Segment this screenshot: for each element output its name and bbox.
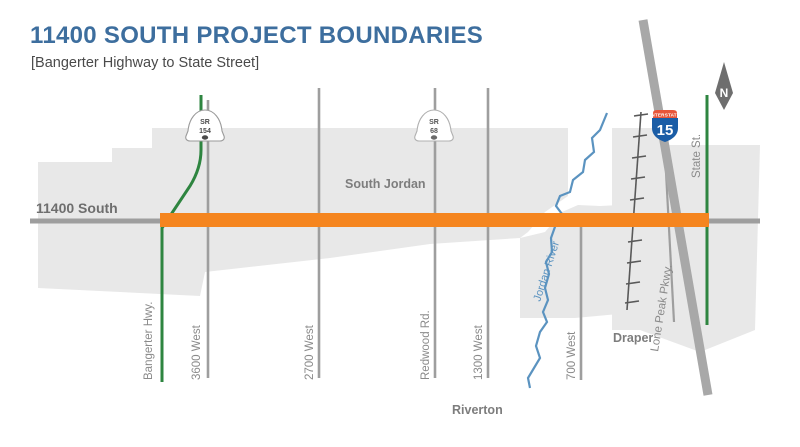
svg-text:154: 154: [199, 128, 211, 135]
corridor-label: 11400 South: [36, 200, 118, 216]
svg-text:SR: SR: [429, 119, 439, 126]
svg-text:68: 68: [430, 128, 438, 135]
road-label-redwood-rd: Redwood Rd.: [420, 310, 432, 380]
road-label-3600-west: 3600 West: [191, 324, 203, 380]
compass-north-label: N: [720, 86, 729, 100]
road-label-2700-west: 2700 West: [304, 324, 316, 380]
shield-sr-68: SR 68: [415, 110, 454, 141]
city-label-draper: Draper: [613, 331, 653, 345]
map-figure: 11400 SOUTH PROJECT BOUNDARIES [Bangerte…: [0, 0, 800, 447]
corridor-layer: [30, 220, 760, 221]
svg-text:15: 15: [657, 122, 674, 139]
shield-sr-154: SR 154: [186, 110, 225, 141]
road-label-700-west: 700 West: [566, 331, 578, 380]
road-label-state-st: State St.: [691, 134, 703, 178]
compass-rose: N: [715, 62, 733, 110]
svg-text:SR: SR: [200, 119, 210, 126]
landmass-wedge: [612, 128, 660, 330]
road-label-bangerter-hwy: Bangerter Hwy.: [143, 302, 155, 380]
road-label-1300-west: 1300 West: [473, 324, 485, 380]
city-label-riverton: Riverton: [452, 403, 503, 417]
svg-text:INTERSTATE: INTERSTATE: [650, 113, 680, 118]
map-canvas: SR 154 SR 68 INTERSTATE 15 N 11400 South…: [0, 0, 800, 447]
city-label-south-jordan: South Jordan: [345, 177, 426, 191]
